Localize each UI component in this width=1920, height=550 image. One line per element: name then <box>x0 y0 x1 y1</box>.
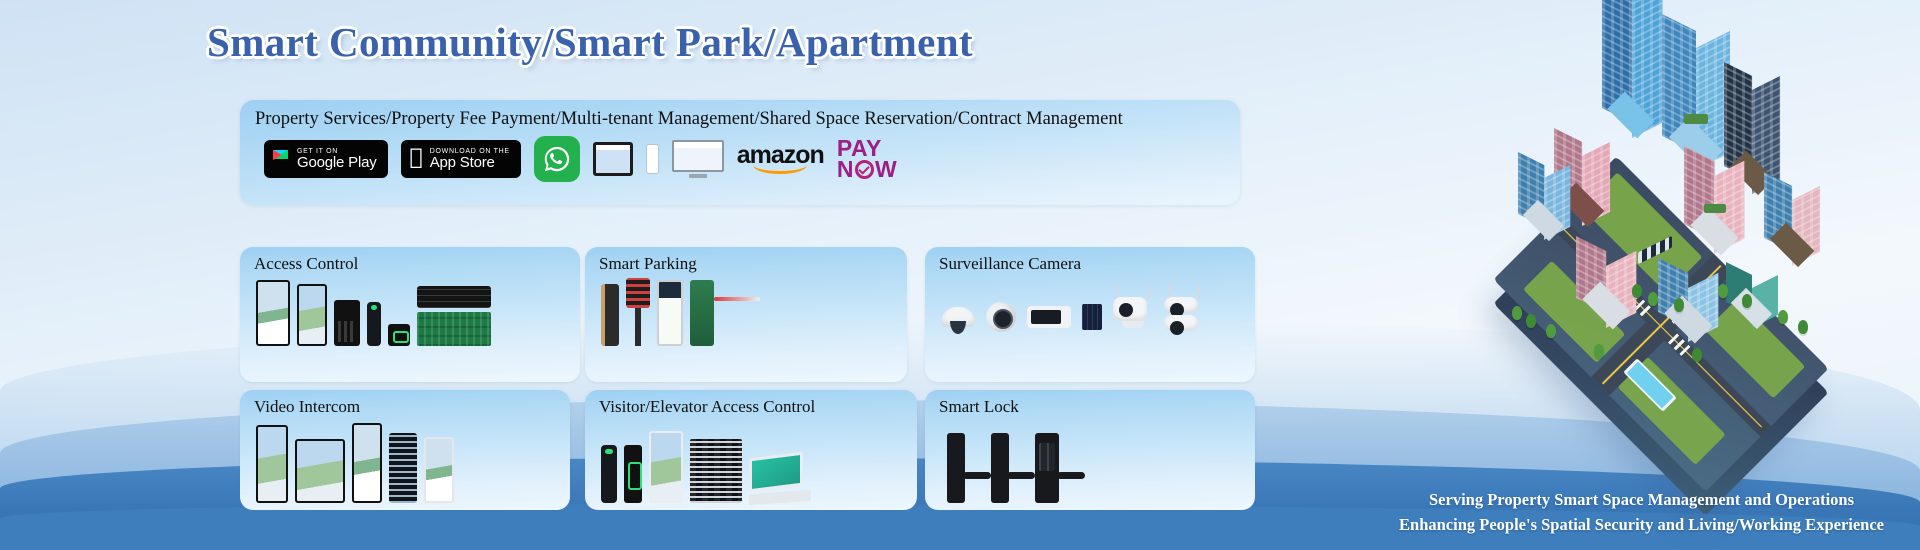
parking-guidance-screen <box>657 280 683 346</box>
card-visitor-elevator-access-control[interactable]: Visitor/Elevator Access Control <box>585 390 917 510</box>
card-smart-parking-products <box>585 274 907 346</box>
footer-tagline: Serving Property Smart Space Management … <box>1399 487 1884 538</box>
google-play-icon <box>273 150 290 169</box>
solar-panel <box>1082 304 1102 330</box>
controller-pcb <box>417 312 491 346</box>
parking-payment-kiosk <box>601 284 619 346</box>
paynow-line2-w: W <box>875 159 897 180</box>
face-access-terminal <box>297 284 327 346</box>
app-store-badge[interactable]:  Download on the App Store <box>401 140 521 178</box>
app-store-badge-line2: App Store <box>430 155 510 171</box>
wide-indoor-monitor <box>295 439 345 503</box>
qr-elevator-reader <box>624 445 642 503</box>
phone-device <box>646 144 659 174</box>
card-access-control-title: Access Control <box>240 247 580 274</box>
face-video-doorphone <box>424 437 454 503</box>
card-smart-lock-products <box>925 417 1255 503</box>
elevator-controller-board <box>690 439 742 503</box>
card-smart-lock-title: Smart Lock <box>925 390 1255 417</box>
card-surveillance-camera-title: Surveillance Camera <box>925 247 1255 274</box>
page-title: Smart Community/Smart Park/Apartment <box>0 18 1180 66</box>
services-panel-heading: Property Services/Property Fee Payment/M… <box>240 100 1240 130</box>
isometric-smart-city <box>1426 48 1896 448</box>
card-surveillance-camera-products <box>925 274 1255 346</box>
desktop-monitor <box>672 140 724 178</box>
turret-camera <box>986 302 1016 332</box>
paynow-logo[interactable]: PAY N W <box>837 138 897 180</box>
smart-door-lock-handle <box>947 433 965 503</box>
amazon-wordmark: amazon <box>737 144 824 168</box>
city-stage <box>1426 48 1896 448</box>
card-surveillance-camera[interactable]: Surveillance Camera <box>925 247 1255 382</box>
tablet-device <box>593 142 633 176</box>
keypad-card-reader <box>334 300 360 346</box>
card-visitor-elevator-products <box>585 417 917 503</box>
card-smart-parking[interactable]: Smart Parking <box>585 247 907 382</box>
services-logo-row: GET IT ON Google Play  Download on the … <box>240 130 1240 182</box>
card-smart-lock[interactable]: Smart Lock <box>925 390 1255 510</box>
card-video-intercom-title: Video Intercom <box>240 390 570 417</box>
barrier-gate <box>690 280 714 346</box>
face-recognition-terminal <box>256 280 290 346</box>
apple-icon:  <box>410 147 423 169</box>
visitor-kiosk-pos <box>749 455 811 503</box>
fingerprint-module <box>388 324 410 346</box>
slim-card-reader <box>367 302 381 346</box>
amazon-smile-icon <box>753 165 807 174</box>
services-panel: Property Services/Property Fee Payment/M… <box>240 100 1240 205</box>
footer-tagline-line1: Serving Property Smart Space Management … <box>1399 487 1884 513</box>
smart-lock-body <box>991 433 1009 503</box>
card-smart-parking-title: Smart Parking <box>585 247 907 274</box>
paynow-line2-n: N <box>837 159 854 180</box>
keypad-smart-lock <box>1035 433 1059 503</box>
visitor-face-terminal <box>649 431 683 503</box>
dual-lens-ptz-camera <box>1164 297 1204 337</box>
lpr-camera-pole <box>626 278 650 346</box>
card-access-control-products <box>240 274 580 346</box>
card-access-control[interactable]: Access Control <box>240 247 580 382</box>
directory-door-station <box>389 433 417 503</box>
google-play-badge[interactable]: GET IT ON Google Play <box>264 140 388 178</box>
paynow-check-icon <box>855 160 874 179</box>
whatsapp-icon[interactable] <box>534 136 580 182</box>
door-station-face <box>352 423 382 503</box>
card-video-intercom[interactable]: Video Intercom <box>240 390 570 510</box>
dome-camera <box>941 307 975 327</box>
solar-ptz-camera <box>1113 297 1153 337</box>
indoor-monitor <box>256 425 288 503</box>
access-controller <box>417 286 491 308</box>
google-play-badge-line2: Google Play <box>297 155 377 171</box>
slim-elevator-reader <box>601 445 617 503</box>
bullet-camera <box>1027 306 1071 328</box>
footer-tagline-line2: Enhancing People's Spatial Security and … <box>1399 512 1884 538</box>
amazon-logo[interactable]: amazon <box>737 144 824 175</box>
card-video-intercom-products <box>240 417 570 503</box>
card-visitor-elevator-title: Visitor/Elevator Access Control <box>585 390 917 417</box>
